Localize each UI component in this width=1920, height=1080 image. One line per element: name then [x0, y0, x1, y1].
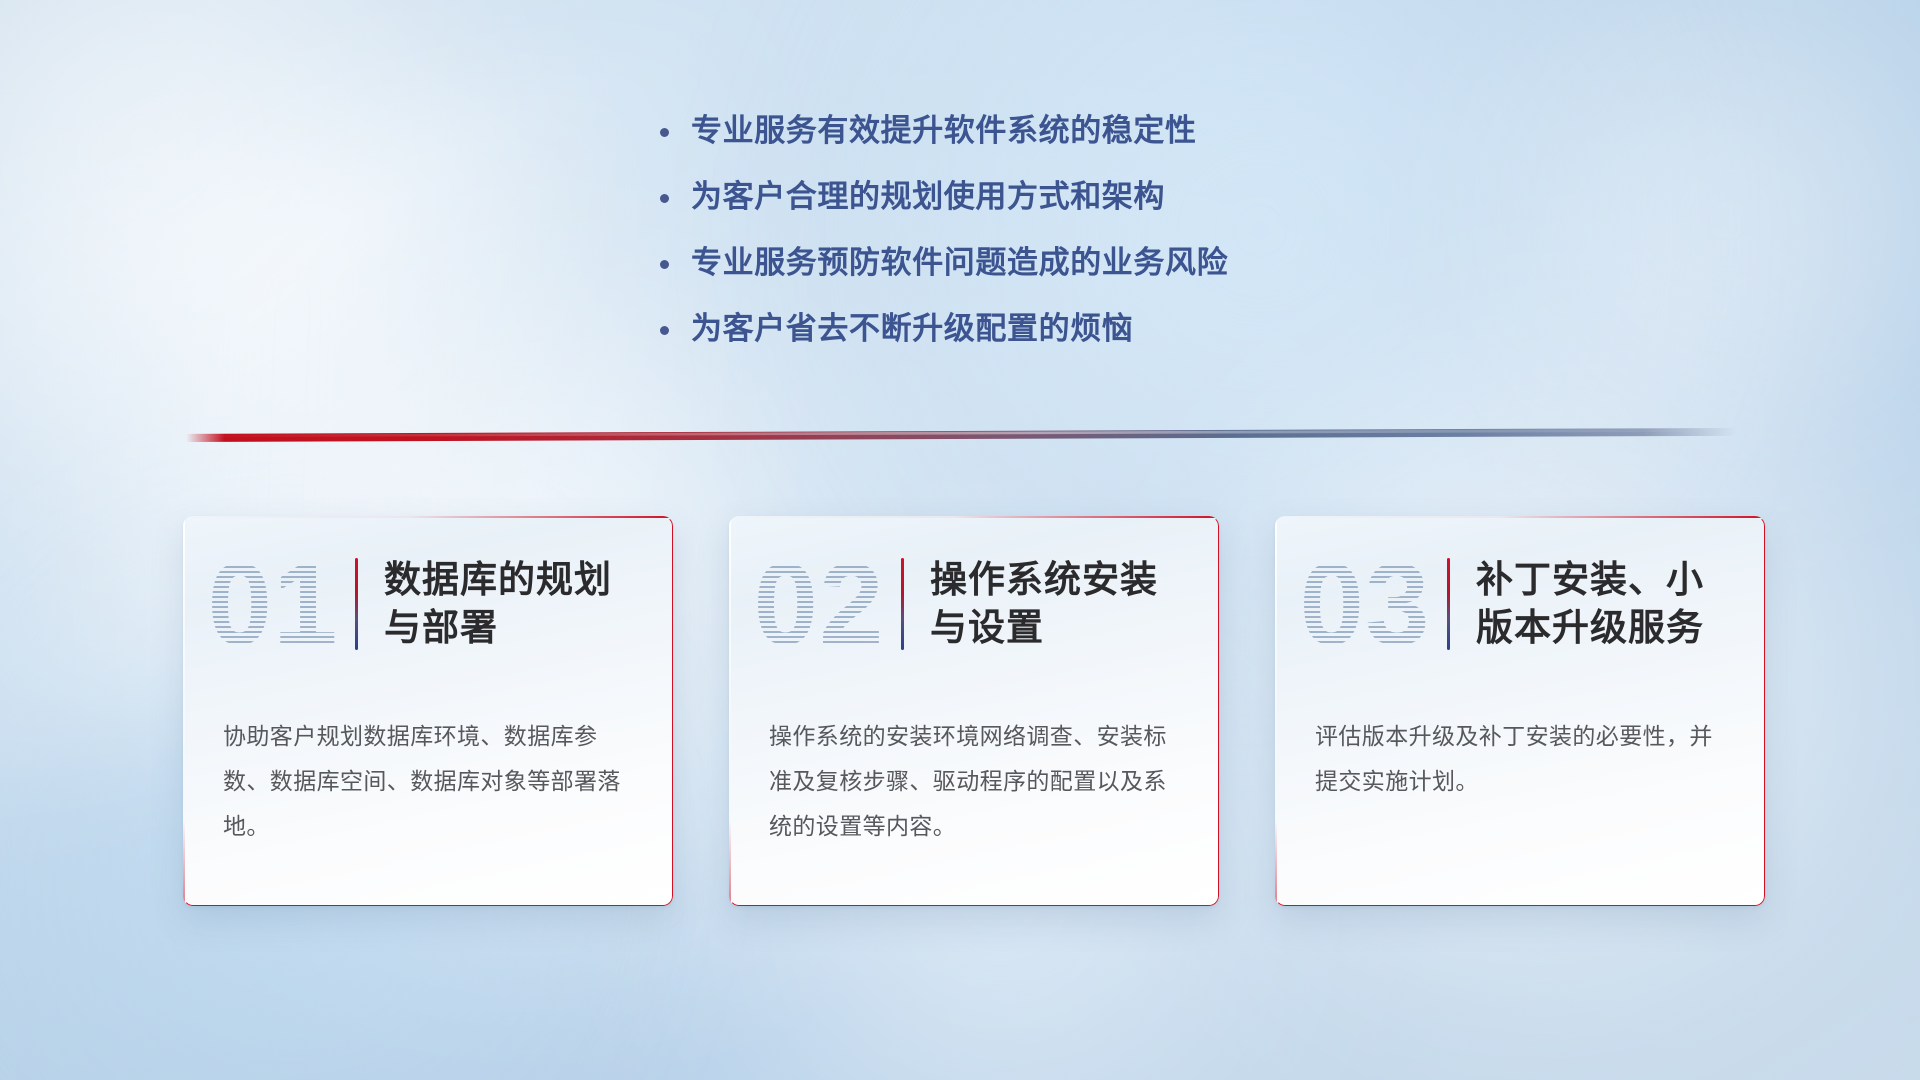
- card-number-watermark: 03: [1289, 546, 1441, 662]
- bullet-dot-icon: [660, 260, 669, 269]
- slide-content: 专业服务有效提升软件系统的稳定性 为客户合理的规划使用方式和架构 专业服务预防软…: [0, 0, 1920, 1080]
- card-title-divider: [355, 558, 358, 650]
- service-card[interactable]: 03 补丁安装、小 版本升级服务 评估版本升级及补丁安装的必要性，并提交实施计划…: [1275, 516, 1765, 906]
- bullet-text: 专业服务预防软件问题造成的业务风险: [691, 230, 1228, 296]
- card-body-text: 操作系统的安装环境网络调查、安装标准及复核步骤、驱动程序的配置以及系统的设置等内…: [729, 692, 1219, 849]
- bullet-dot-icon: [660, 194, 669, 203]
- card-body-text: 协助客户规划数据库环境、数据库参数、数据库空间、数据库对象等部署落地。: [183, 692, 673, 849]
- bullet-text: 专业服务有效提升软件系统的稳定性: [691, 98, 1197, 164]
- card-title: 操作系统安装 与设置: [930, 556, 1158, 652]
- bullet-dot-icon: [660, 128, 669, 137]
- benefits-bullet-list: 专业服务有效提升软件系统的稳定性 为客户合理的规划使用方式和架构 专业服务预防软…: [660, 98, 1460, 362]
- card-header: 02 操作系统安装 与设置: [729, 516, 1219, 692]
- card-number-watermark: 02: [743, 546, 895, 662]
- service-card[interactable]: 01 数据库的规划 与部署 协助客户规划数据库环境、数据库参数、数据库空间、数据…: [183, 516, 673, 906]
- list-item: 为客户合理的规划使用方式和架构: [660, 164, 1460, 230]
- card-title: 数据库的规划 与部署: [384, 556, 612, 652]
- card-header: 01 数据库的规划 与部署: [183, 516, 673, 692]
- card-title: 补丁安装、小 版本升级服务: [1476, 556, 1704, 652]
- section-divider: [186, 428, 1736, 442]
- card-header: 03 补丁安装、小 版本升级服务: [1275, 516, 1765, 692]
- list-item: 专业服务有效提升软件系统的稳定性: [660, 98, 1460, 164]
- card-title-divider: [901, 558, 904, 650]
- card-number-watermark: 01: [197, 546, 349, 662]
- bullet-text: 为客户省去不断升级配置的烦恼: [691, 296, 1133, 362]
- list-item: 专业服务预防软件问题造成的业务风险: [660, 230, 1460, 296]
- card-body-text: 评估版本升级及补丁安装的必要性，并提交实施计划。: [1275, 692, 1765, 804]
- card-title-divider: [1447, 558, 1450, 650]
- list-item: 为客户省去不断升级配置的烦恼: [660, 296, 1460, 362]
- service-card[interactable]: 02 操作系统安装 与设置 操作系统的安装环境网络调查、安装标准及复核步骤、驱动…: [729, 516, 1219, 906]
- bullet-dot-icon: [660, 326, 669, 335]
- bullet-text: 为客户合理的规划使用方式和架构: [691, 164, 1165, 230]
- service-card-row: 01 数据库的规划 与部署 协助客户规划数据库环境、数据库参数、数据库空间、数据…: [183, 516, 1765, 906]
